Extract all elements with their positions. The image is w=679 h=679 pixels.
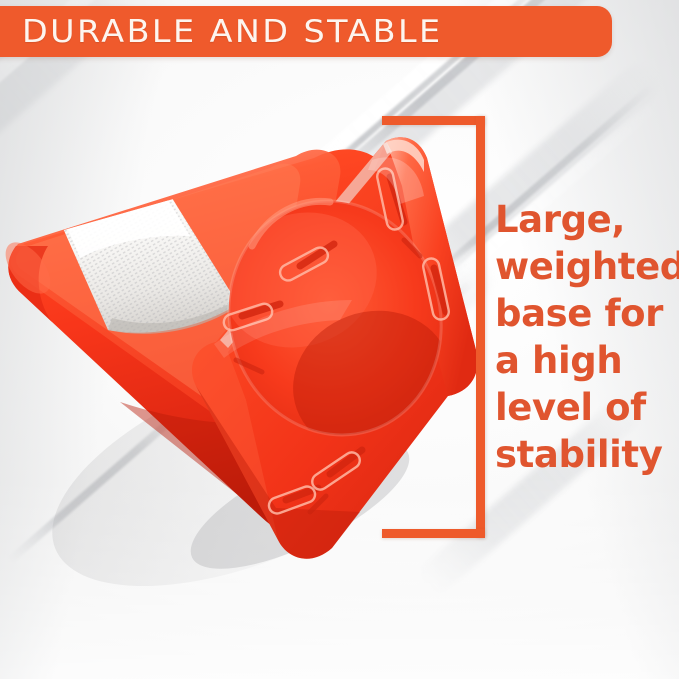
- infographic-canvas: DURABLE AND STABLE Large, weighted base …: [0, 0, 679, 679]
- bracket-top-arm: [382, 116, 485, 125]
- callout-line: base for: [495, 290, 675, 337]
- callout-line: a high: [495, 337, 675, 384]
- banner-title: DURABLE AND STABLE: [22, 14, 443, 50]
- callout-line: stability: [495, 431, 675, 478]
- header-banner: DURABLE AND STABLE: [0, 6, 612, 57]
- callout-line: weighted: [495, 243, 675, 290]
- callout-line: Large,: [495, 196, 675, 243]
- bracket-vertical-bar: [476, 116, 485, 538]
- callout-text-block: Large, weighted base for a high level of…: [495, 196, 675, 478]
- bracket-bottom-arm: [382, 529, 485, 538]
- callout-line: level of: [495, 384, 675, 431]
